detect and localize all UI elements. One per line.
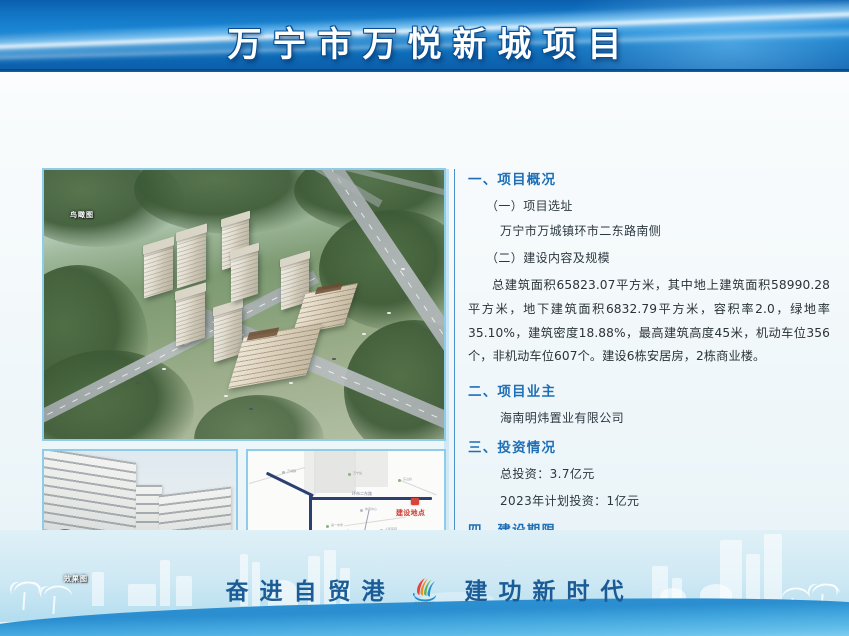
footer-slogan: 奋进自贸港 海南自由贸易港 建功新时代 (0, 572, 849, 606)
logo-caption: 海南自由贸易港 (410, 601, 440, 605)
value-owner-company: 海南明炜置业有限公司 (500, 409, 830, 426)
street-view-label: 效果图 (64, 574, 88, 584)
content-area: 鸟瞰图 (0, 72, 849, 530)
aerial-view-image: 鸟瞰图 (42, 168, 446, 441)
construction-site-label: 建设地点 (396, 508, 425, 518)
map-poi-label: 万城镇 (287, 469, 296, 473)
value-site-address: 万宁市万城镇环市二东路南侧 (500, 222, 830, 239)
subheading-scope-and-scale: （二）建设内容及规模 (486, 249, 830, 266)
map-poi-label: 第一中学 (331, 523, 343, 527)
footer-banner: 奋进自贸港 海南自由贸易港 建功新时代 (0, 530, 849, 636)
aerial-view-label: 鸟瞰图 (70, 210, 94, 220)
value-total-investment: 总投资：3.7亿元 (500, 465, 830, 482)
section-overview: 一、项目概况 （一）项目选址 万宁市万城镇环市二东路南侧 （二）建设内容及规模 … (468, 168, 830, 369)
section-heading-investment: 三、投资情况 (468, 436, 830, 456)
page-title: 万宁市万悦新城项目 (0, 17, 849, 66)
paragraph-scope-and-scale: 总建筑面积65823.07平方米，其中地上建筑面积58990.28平方米，地下建… (468, 274, 830, 369)
map-poi-label: 东山岭 (403, 477, 412, 481)
section-heading-owner: 二、项目业主 (468, 380, 830, 400)
section-heading-overview: 一、项目概况 (468, 168, 830, 188)
construction-site-marker (411, 498, 419, 505)
map-poi-label: 体育中心 (365, 507, 377, 511)
project-poster: 万宁市万悦新城项目 (0, 0, 849, 636)
header-banner: 万宁市万悦新城项目 (0, 0, 849, 72)
hainan-free-trade-port-logo-icon: 海南自由贸易港 (410, 574, 440, 604)
section-investment: 三、投资情况 总投资：3.7亿元 2023年计划投资：1亿元 (468, 436, 830, 509)
value-planned-investment-2023: 2023年计划投资：1亿元 (500, 492, 830, 509)
map-poi-label: 万宁站 (353, 471, 362, 475)
map-road-name-1: 环市二东路 (352, 491, 372, 497)
section-owner: 二、项目业主 海南明炜置业有限公司 (468, 380, 830, 426)
slogan-right-text: 建功新时代 (454, 572, 635, 606)
slogan-left-text: 奋进自贸港 (215, 572, 396, 606)
subheading-site-selection: （一）项目选址 (486, 197, 830, 214)
